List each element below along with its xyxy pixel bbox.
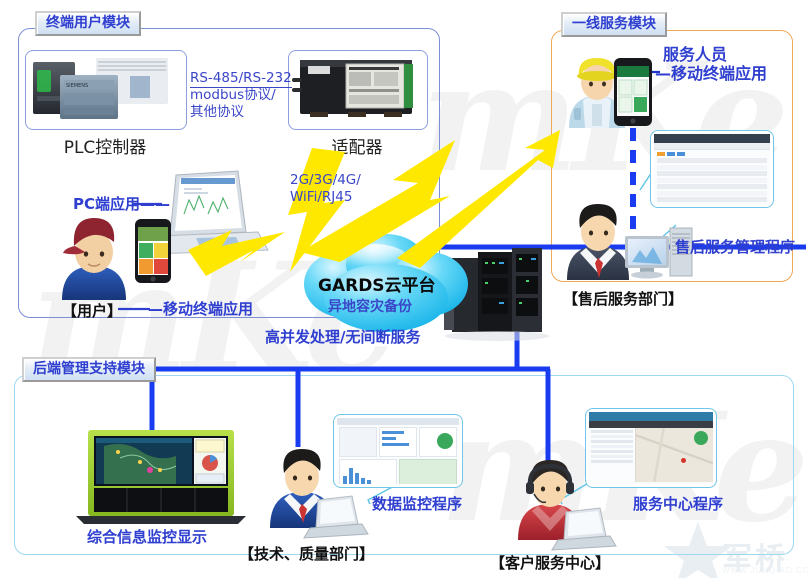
tech-department-label: 【技术、质量部门】: [239, 543, 374, 564]
pc-app-label: PC端应用——: [73, 195, 170, 214]
lightning-bolts: [0, 0, 808, 578]
service-center-program-label: 服务中心程序: [633, 495, 723, 514]
badge-backend-module: 后端管理支持模块: [22, 357, 156, 382]
cloud-caption: 高并发处理/无间断服务: [265, 328, 420, 347]
protocol-line-1: RS-485/RS-232: [190, 70, 292, 88]
customer-center-label: 【客户服务中心】: [490, 552, 610, 573]
network-line-1: 2G/3G/4G/: [290, 172, 361, 188]
user-label: 【用户】: [62, 300, 122, 321]
badge-frontline-module: 一线服务模块: [561, 12, 667, 37]
service-staff-mobile-app-label: —移动终端应用: [655, 64, 767, 84]
data-monitor-program-label: 数据监控程序: [372, 495, 462, 514]
architecture-diagram: mKe mKe mKe 军桥网 WWW.JUNQIAO.COM: [0, 0, 808, 578]
lightning-bolt-icon: [188, 230, 285, 276]
aftersales-program-label: 售后服务管理程序: [675, 238, 795, 257]
monitor-display-label: 综合信息监控显示: [87, 528, 207, 547]
aftersales-department-label: 【售后服务部门】: [563, 288, 683, 309]
network-line-2: WiFi/RJ45: [290, 189, 352, 205]
protocol-line-3: 其他协议: [190, 104, 244, 120]
service-staff-label: 服务人员: [663, 45, 727, 65]
protocol-line-2: modbus协议/: [190, 87, 276, 103]
mobile-app-label: —移动终端应用: [148, 300, 253, 319]
badge-terminal-module: 终端用户模块: [35, 11, 141, 36]
